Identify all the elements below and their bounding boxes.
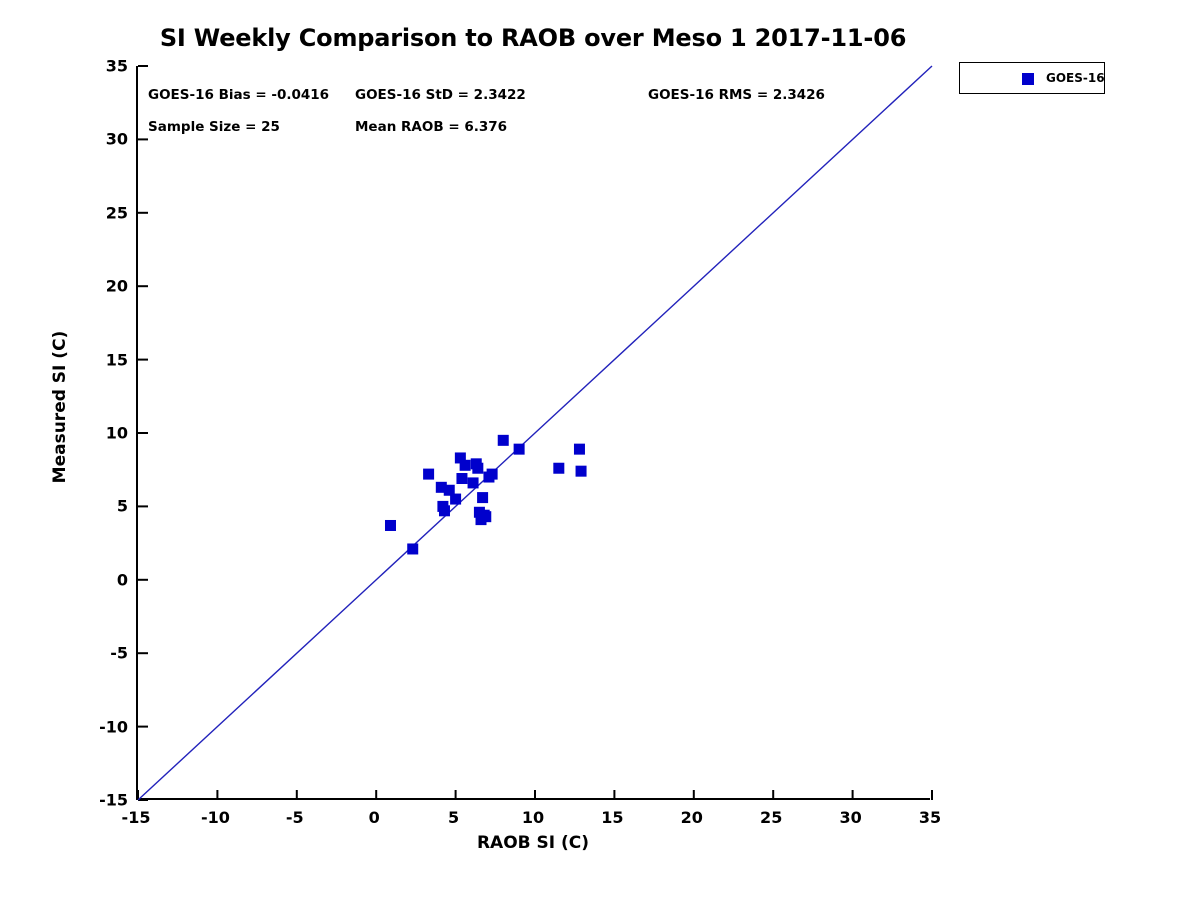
y-axis-title: Measured SI (C) <box>50 307 70 507</box>
legend-label-goes-16: GOES-16 <box>1046 71 1105 85</box>
x-axis-tick-labels: -15-10-505101520253035 <box>136 808 930 832</box>
x-tick-label: 5 <box>448 808 459 827</box>
y-tick-label: -10 <box>99 717 128 736</box>
y-tick-label: 5 <box>117 497 128 516</box>
data-point <box>456 473 467 484</box>
scatter-points <box>385 435 587 555</box>
x-tick-label: -5 <box>286 808 304 827</box>
y-tick-label: 30 <box>106 130 128 149</box>
data-point <box>574 444 585 455</box>
chart-title: SI Weekly Comparison to RAOB over Meso 1… <box>136 24 930 52</box>
x-tick-label: 10 <box>522 808 544 827</box>
y-tick-label: 0 <box>117 570 128 589</box>
y-tick-label: 10 <box>106 424 128 443</box>
data-point <box>553 463 564 474</box>
y-tick-label: -5 <box>110 644 128 663</box>
data-point <box>477 492 488 503</box>
y-tick-label: -15 <box>99 791 128 810</box>
x-tick-label: 0 <box>369 808 380 827</box>
x-axis-title: RAOB SI (C) <box>136 833 930 853</box>
legend-marker-goes-16 <box>1022 73 1034 85</box>
x-tick-label: 25 <box>760 808 782 827</box>
y-tick-label: 25 <box>106 203 128 222</box>
data-point <box>450 494 461 505</box>
chart-figure: SI Weekly Comparison to RAOB over Meso 1… <box>0 0 1200 900</box>
x-tick-label: 35 <box>919 808 941 827</box>
data-point <box>472 463 483 474</box>
x-tick-label: 20 <box>681 808 703 827</box>
x-tick-label: 30 <box>839 808 861 827</box>
x-tick-label: 15 <box>601 808 623 827</box>
y-tick-label: 15 <box>106 350 128 369</box>
data-point <box>498 435 509 446</box>
data-point <box>480 511 491 522</box>
data-point <box>468 477 479 488</box>
one-to-one-line <box>138 66 932 800</box>
data-point <box>576 466 587 477</box>
data-point <box>460 460 471 471</box>
reference-line-one-to-one <box>138 66 932 800</box>
chart-legend: GOES-16 <box>959 62 1105 94</box>
data-point <box>385 520 396 531</box>
data-point <box>514 444 525 455</box>
x-tick-label: -10 <box>201 808 230 827</box>
data-point <box>407 543 418 554</box>
y-tick-label: 20 <box>106 277 128 296</box>
data-point <box>487 469 498 480</box>
y-tick-label: 35 <box>106 57 128 76</box>
data-point <box>439 505 450 516</box>
plot-area <box>136 66 930 800</box>
x-tick-label: -15 <box>122 808 151 827</box>
plot-canvas <box>138 66 932 800</box>
data-point <box>423 469 434 480</box>
